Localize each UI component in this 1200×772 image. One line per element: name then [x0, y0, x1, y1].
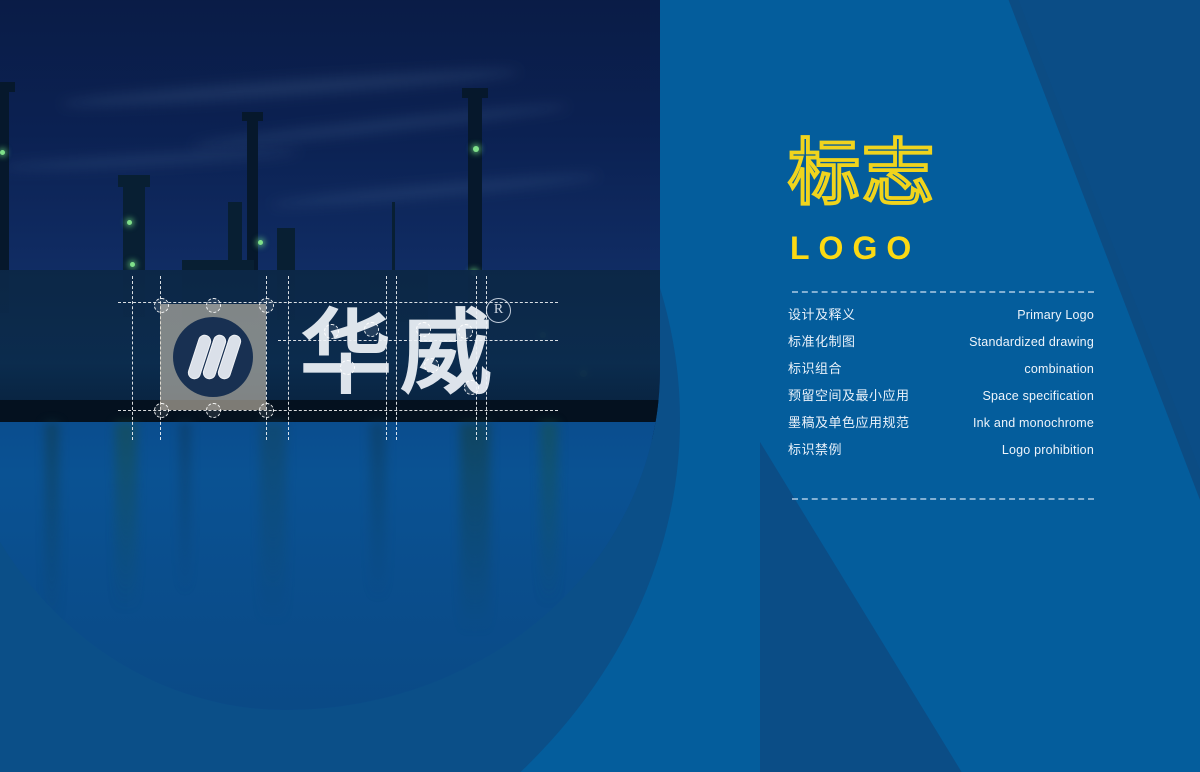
construction-node — [416, 322, 431, 337]
divider-bottom — [792, 498, 1094, 500]
distillation-tower — [118, 175, 150, 187]
construction-node — [259, 298, 274, 313]
logo-lockup: 华 威 R — [128, 288, 548, 428]
water-reflection — [0, 422, 660, 710]
list-item-label-en: combination — [1024, 362, 1094, 376]
construction-node — [154, 298, 169, 313]
w-monogram-icon — [160, 304, 266, 410]
guide-line-vertical — [288, 276, 289, 440]
construction-node — [424, 358, 439, 373]
list-item-label-cn: 标准化制图 — [788, 331, 856, 350]
list-item-label-cn: 预留空间及最小应用 — [788, 385, 910, 404]
logo-construction-lockup: 华 威 R — [128, 288, 548, 428]
construction-node — [458, 324, 473, 339]
plant-light — [130, 262, 135, 267]
list-item-label-en: Space specification — [982, 389, 1094, 403]
guide-line-horizontal — [118, 410, 558, 411]
list-item-label-en: Standardized drawing — [969, 335, 1094, 349]
list-item[interactable]: 设计及释义 Primary Logo — [788, 304, 1094, 331]
reflection-streak — [460, 422, 490, 710]
list-item-label-cn: 墨稿及单色应用规范 — [788, 412, 910, 431]
construction-node — [340, 360, 355, 375]
reflection-streak — [115, 422, 137, 710]
list-item-label-en: Ink and monochrome — [973, 416, 1094, 430]
refinery-chimney — [242, 112, 263, 121]
refinery-chimney — [0, 82, 15, 92]
list-item-label-en: Primary Logo — [1017, 308, 1094, 322]
page-title-cn: 标志 — [788, 137, 936, 209]
plant-light — [258, 240, 263, 245]
wordmark-char-hua: 华 — [300, 308, 392, 400]
plant-light — [473, 146, 479, 152]
guide-line-vertical — [132, 276, 133, 440]
plant-light — [127, 220, 132, 225]
reflection-streak — [370, 422, 386, 710]
construction-node — [259, 403, 274, 418]
reflection-streak — [260, 422, 286, 710]
content-panel: 标志 LOGO 设计及释义 Primary Logo 标准化制图 Standar… — [788, 0, 1094, 772]
construction-node — [206, 298, 221, 313]
construction-node — [364, 322, 379, 337]
page-title-en: LOGO — [790, 232, 920, 264]
list-item-label-cn: 标识禁例 — [788, 439, 842, 458]
divider-top — [792, 291, 1094, 293]
reflection-streak — [540, 422, 558, 710]
reflection-streak — [45, 422, 59, 710]
list-item-label-en: Logo prohibition — [1002, 443, 1094, 457]
list-item[interactable]: 标准化制图 Standardized drawing — [788, 331, 1094, 358]
refinery-chimney — [462, 88, 488, 98]
construction-node — [206, 403, 221, 418]
list-item[interactable]: 预留空间及最小应用 Space specification — [788, 385, 1094, 412]
list-item[interactable]: 标识禁例 Logo prohibition — [788, 439, 1094, 466]
construction-node — [324, 324, 339, 339]
construction-node — [464, 380, 479, 395]
construction-node — [154, 403, 169, 418]
reflection-streak — [180, 422, 190, 710]
registered-trademark-icon: R — [486, 298, 511, 323]
contents-list: 设计及释义 Primary Logo 标准化制图 Standardized dr… — [788, 304, 1094, 466]
list-item[interactable]: 标识组合 combination — [788, 358, 1094, 385]
list-item[interactable]: 墨稿及单色应用规范 Ink and monochrome — [788, 412, 1094, 439]
guide-line-vertical — [396, 276, 397, 440]
brand-manual-page: 华 威 R 标志 LOGO 设计及释义 Primary Logo 标准化制图 S… — [0, 0, 1200, 772]
plant-light — [0, 150, 5, 155]
list-item-label-cn: 标识组合 — [788, 358, 842, 377]
monogram-circle — [173, 317, 253, 397]
list-item-label-cn: 设计及释义 — [788, 304, 856, 323]
